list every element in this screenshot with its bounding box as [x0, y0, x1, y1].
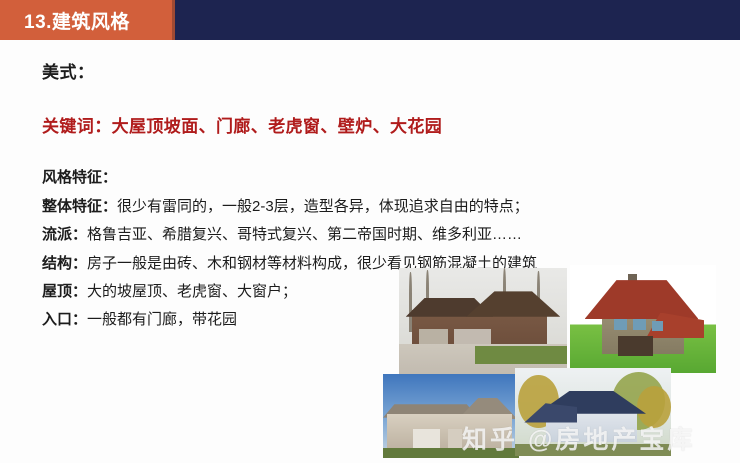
- feature-label: 入口：: [42, 311, 87, 328]
- feature-row: 整体特征：很少有雷同的，一般2-3层，造型各异，体现追求自由的特点；: [42, 198, 702, 215]
- features-heading: 风格特征：: [42, 166, 702, 187]
- style-subtitle: 美式：: [42, 58, 702, 83]
- header-section-title: 13.建筑风格: [0, 7, 130, 34]
- photo-stucco-house: [383, 374, 519, 458]
- feature-label: 屋顶：: [42, 283, 87, 300]
- lawn: [475, 346, 567, 364]
- photo-white-blue-house: [515, 368, 671, 456]
- lawn: [515, 444, 671, 456]
- feature-row: 流派：格鲁吉亚、希腊复兴、哥特式复兴、第二帝国时期、维多利亚……: [42, 226, 702, 243]
- feature-label: 流派：: [42, 226, 87, 243]
- feature-value: 大的坡屋顶、老虎窗、大窗户；: [87, 283, 297, 300]
- feature-value: 一般都有门廊，带花园: [87, 311, 237, 328]
- garage-door: [413, 429, 440, 447]
- photo-tudor-brick-house: [399, 268, 567, 374]
- window: [633, 319, 646, 330]
- feature-value: 格鲁吉亚、希腊复兴、哥特式复兴、第二帝国时期、维多利亚……: [87, 226, 522, 243]
- lawn: [383, 448, 519, 458]
- photo-collage: [380, 262, 725, 458]
- slide-canvas: 13.建筑风格 美式： 关键词：大屋顶坡面、门廊、老虎窗、壁炉、大花园 风格特征…: [0, 0, 740, 463]
- keywords-line: 关键词：大屋顶坡面、门廊、老虎窗、壁炉、大花园: [42, 112, 702, 137]
- photo-red-roof-render: [570, 265, 716, 373]
- feature-label: 整体特征：: [42, 198, 117, 215]
- window: [652, 321, 664, 331]
- header-section-tab: 13.建筑风格: [0, 0, 175, 40]
- feature-label: 结构：: [42, 255, 87, 272]
- feature-value: 很少有雷同的，一般2-3层，造型各异，体现追求自由的特点；: [117, 198, 529, 215]
- window: [614, 319, 627, 330]
- header-divider: [172, 0, 175, 40]
- garage-door: [618, 336, 653, 355]
- entry-door: [448, 429, 462, 447]
- tree-icon: [637, 386, 671, 428]
